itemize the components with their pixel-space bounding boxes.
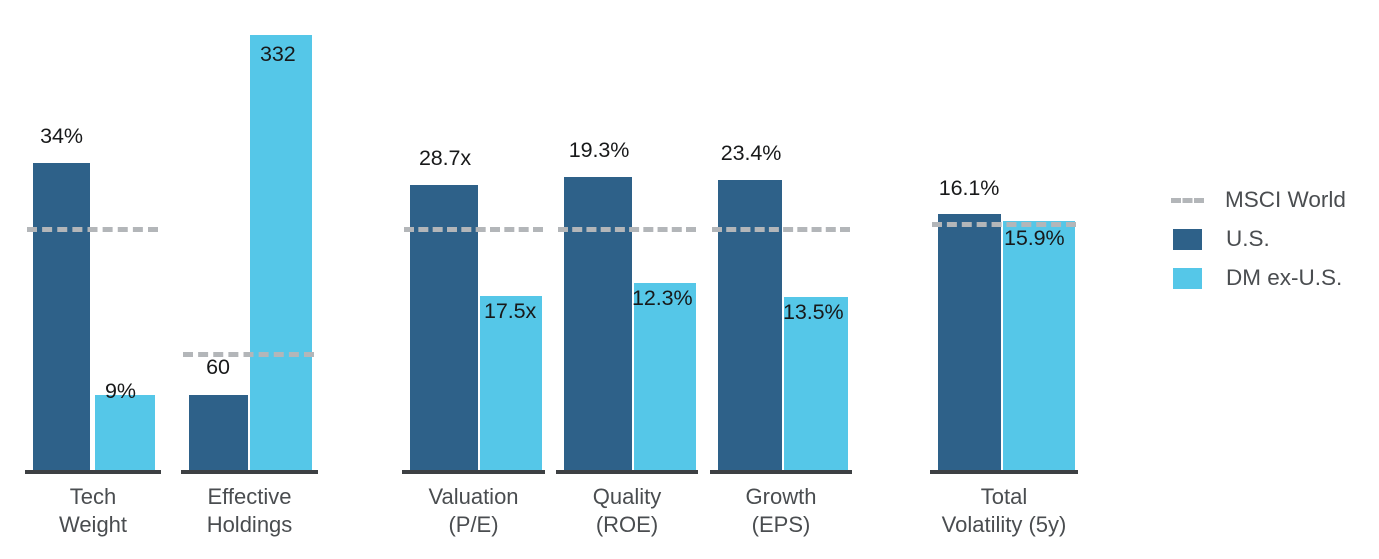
benchmark-line-tech-weight xyxy=(27,227,158,232)
legend-item-msci-world[interactable]: MSCI World xyxy=(1168,183,1378,217)
chart-legend: MSCI World U.S. DM ex-U.S. xyxy=(1168,183,1378,300)
bar-us-total-volatility[interactable] xyxy=(938,214,1001,472)
category-label-effective-holdings: Effective Holdings xyxy=(167,483,332,539)
legend-item-dm-ex-us[interactable]: DM ex-U.S. xyxy=(1168,261,1378,295)
bar-dm-tech-weight[interactable] xyxy=(95,395,155,472)
category-label-tech-weight: Tech Weight xyxy=(11,483,175,539)
legend-label-dm-ex-us: DM ex-U.S. xyxy=(1226,267,1342,290)
value-label-dm-quality-roe: 12.3% xyxy=(632,288,692,310)
category-label-valuation-pe: Valuation (P/E) xyxy=(388,483,559,539)
panel-total-volatility: 16.1% 15.9% Total Volatility (5y) xyxy=(930,0,1078,559)
value-label-us-quality-roe: 19.3% xyxy=(552,140,646,162)
value-label-us-valuation-pe: 28.7x xyxy=(398,148,492,170)
category-label-growth-eps: Growth (EPS) xyxy=(696,483,866,539)
value-label-us-tech-weight: 34% xyxy=(23,126,100,148)
legend-item-us[interactable]: U.S. xyxy=(1168,222,1378,256)
axis-baseline-tech-weight xyxy=(25,470,161,474)
value-label-dm-effective-holdings: 332 xyxy=(260,44,296,66)
legend-label-us: U.S. xyxy=(1226,228,1270,251)
axis-baseline-growth-eps xyxy=(710,470,852,474)
color-swatch-icon-dm xyxy=(1173,268,1202,289)
bar-us-growth-eps[interactable] xyxy=(718,180,782,472)
benchmark-line-growth-eps xyxy=(712,227,850,232)
axis-baseline-quality-roe xyxy=(556,470,698,474)
value-label-dm-growth-eps: 13.5% xyxy=(783,302,843,324)
bar-dm-effective-holdings[interactable] xyxy=(250,35,312,472)
chart-canvas: 34% 9% Tech Weight 60 332 Effective Hold… xyxy=(0,0,1379,559)
legend-label-msci-world: MSCI World xyxy=(1225,189,1346,212)
bar-dm-total-volatility[interactable] xyxy=(1003,221,1075,472)
category-label-total-volatility: Total Volatility (5y) xyxy=(906,483,1102,539)
color-swatch-icon-us xyxy=(1173,229,1202,250)
bar-us-tech-weight[interactable] xyxy=(33,163,90,472)
category-label-quality-roe: Quality (ROE) xyxy=(542,483,712,539)
bar-dm-quality-roe[interactable] xyxy=(634,283,696,472)
panel-valuation-pe: 28.7x 17.5x Valuation (P/E) xyxy=(402,0,545,559)
benchmark-line-effective-holdings xyxy=(183,352,314,357)
value-label-us-growth-eps: 23.4% xyxy=(704,143,798,165)
axis-baseline-total-volatility xyxy=(930,470,1078,474)
panel-effective-holdings: 60 332 Effective Holdings xyxy=(181,0,318,559)
panel-growth-eps: 23.4% 13.5% Growth (EPS) xyxy=(710,0,852,559)
value-label-dm-tech-weight: 9% xyxy=(105,381,136,403)
dashed-line-icon xyxy=(1171,198,1204,203)
panel-quality-roe: 19.3% 12.3% Quality (ROE) xyxy=(556,0,698,559)
value-label-dm-total-volatility: 15.9% xyxy=(1004,228,1064,250)
benchmark-line-quality-roe xyxy=(558,227,696,232)
panel-tech-weight: 34% 9% Tech Weight xyxy=(25,0,161,559)
value-label-dm-valuation-pe: 17.5x xyxy=(484,301,536,323)
axis-baseline-valuation-pe xyxy=(402,470,545,474)
benchmark-line-total-volatility xyxy=(932,222,1076,227)
value-label-us-total-volatility: 16.1% xyxy=(922,178,1016,200)
benchmark-line-valuation-pe xyxy=(404,227,543,232)
axis-baseline-effective-holdings xyxy=(181,470,318,474)
bar-us-effective-holdings[interactable] xyxy=(189,395,248,472)
bar-us-quality-roe[interactable] xyxy=(564,177,632,472)
value-label-us-effective-holdings: 60 xyxy=(181,357,255,379)
